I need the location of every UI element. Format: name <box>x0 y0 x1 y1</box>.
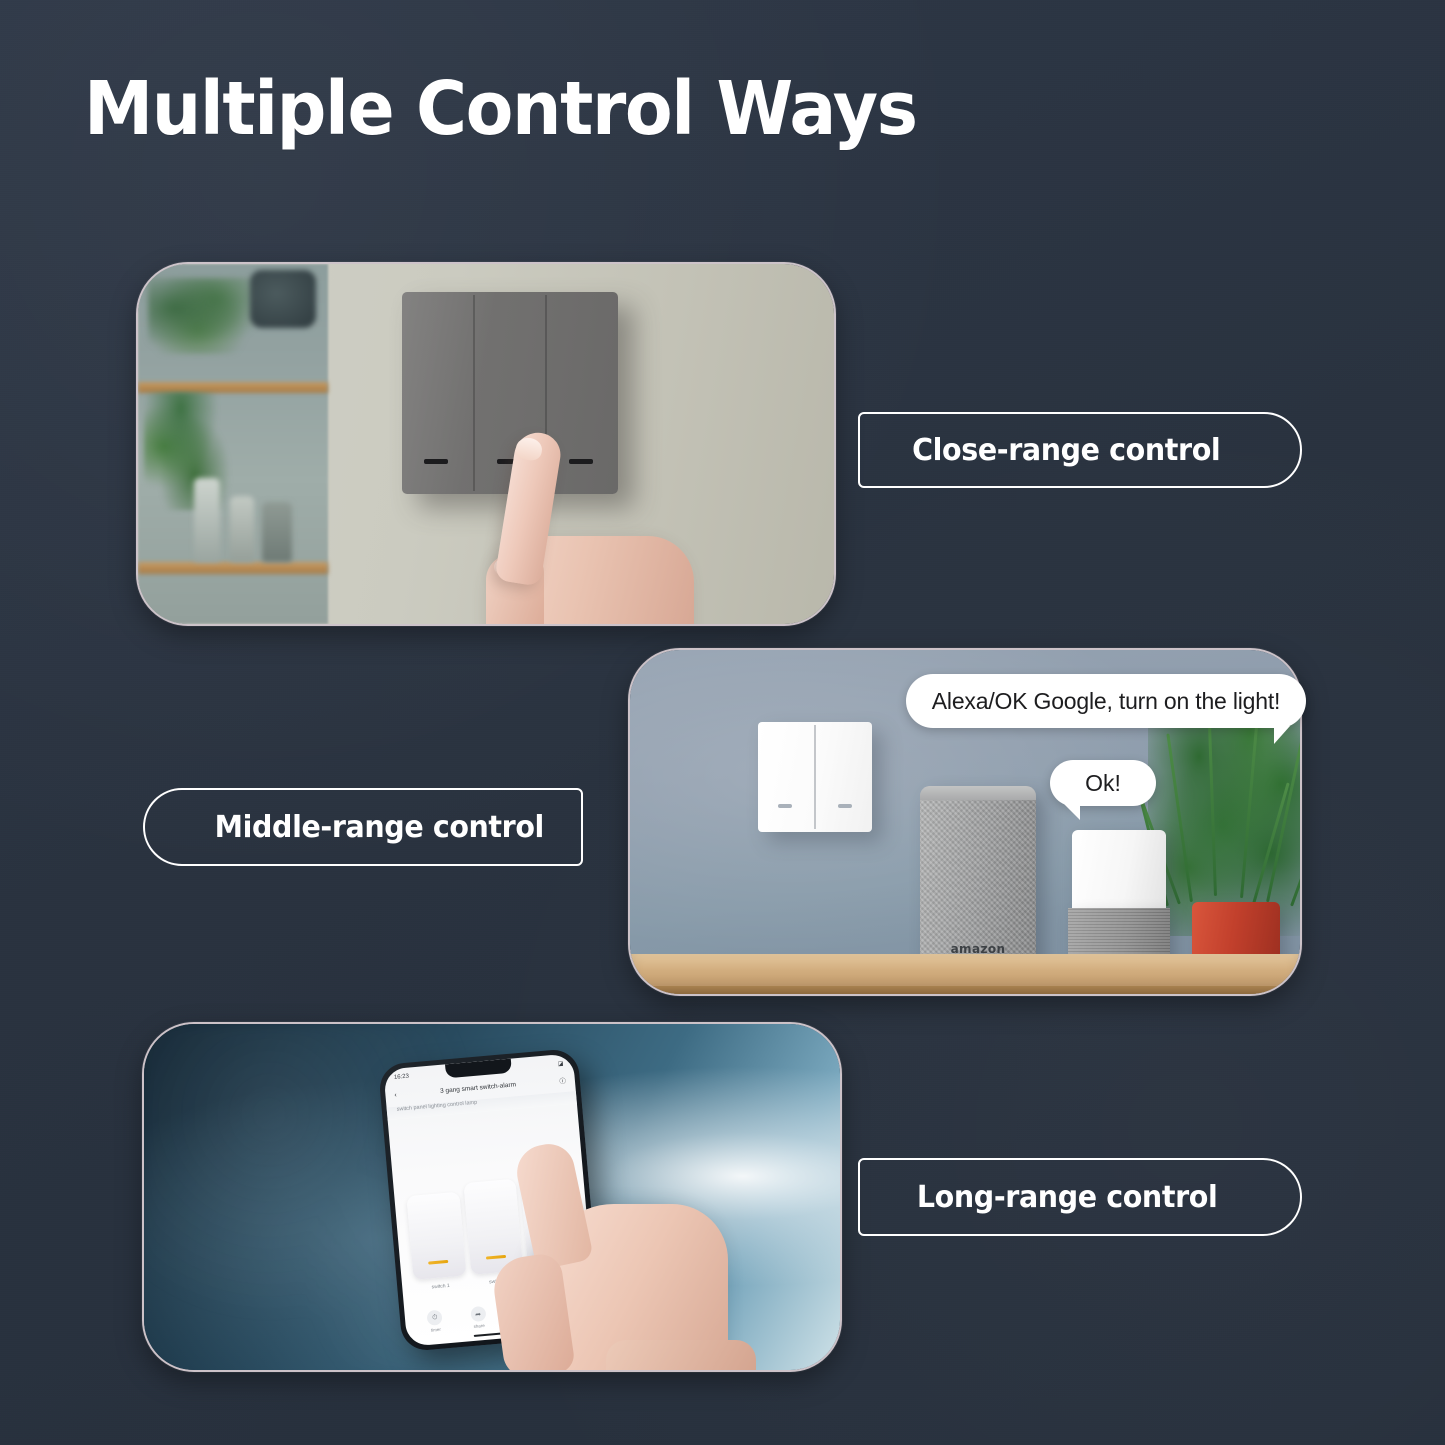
bottle-decor-3 <box>262 502 292 562</box>
shelf-board-lower <box>138 562 328 574</box>
info-icon[interactable]: ⓘ <box>559 1075 566 1086</box>
label-close-range-control[interactable]: Close-range control <box>858 412 1302 488</box>
pill-close-label: Close-range control <box>912 433 1220 468</box>
switch-divider-1 <box>473 295 475 491</box>
bubble-tail-icon <box>1274 726 1294 744</box>
wall-switch-2gang[interactable] <box>758 722 872 832</box>
back-icon[interactable]: ‹ <box>394 1091 397 1098</box>
tile-indicator-icon <box>486 1254 506 1259</box>
hand-holding-phone <box>516 1144 756 1370</box>
long-range-scene: 16:23 ◪ ‹ 3 gang smart switch-alarm ⓘ sw… <box>144 1024 840 1370</box>
plant-icon <box>148 278 256 354</box>
plant-stem <box>1240 717 1259 899</box>
label-long-range-control[interactable]: Long-range control <box>858 1158 1302 1236</box>
tile-label: switch 1 <box>414 1281 467 1292</box>
bottle-decor-1 <box>194 478 220 562</box>
google-home-top <box>1072 830 1166 910</box>
label-middle-range-control[interactable]: Middle-range control <box>143 788 583 866</box>
pill-middle-label: Middle-range control <box>214 810 543 845</box>
google-home-speaker <box>1068 830 1170 972</box>
hand-pressing-switch <box>490 432 706 624</box>
share-icon: ➦ <box>470 1306 486 1322</box>
clock-icon: ⏱ <box>427 1310 443 1326</box>
bottle-decor-2 <box>230 496 254 562</box>
toolbar-label: timer <box>431 1327 441 1333</box>
toolbar-item-timer[interactable]: ⏱ timer <box>427 1310 444 1333</box>
switch-indicator-1 <box>424 459 448 464</box>
wooden-shelf <box>630 954 1300 994</box>
plant-stem <box>1266 741 1300 902</box>
panel-close-range <box>136 262 836 626</box>
status-icons: ◪ <box>557 1060 563 1067</box>
amazon-echo-speaker: amazon <box>920 786 1036 968</box>
page-title: Multiple Control Ways <box>84 72 917 146</box>
hanging-vine-icon <box>144 392 236 510</box>
switch-indicator-1 <box>778 804 792 808</box>
plant-stem <box>1207 708 1217 896</box>
speech-bubble-voice-command: Alexa/OK Google, turn on the light! <box>906 674 1306 728</box>
app-title: 3 gang smart switch-alarm <box>440 1081 517 1095</box>
echo-top-ring <box>920 786 1036 800</box>
tile-indicator-icon <box>428 1259 448 1264</box>
close-range-scene <box>138 264 834 624</box>
switch-divider <box>814 725 816 829</box>
switch-tile[interactable]: switch 1 <box>406 1192 466 1280</box>
switch-indicator-2 <box>838 804 852 808</box>
voice-command-text: Alexa/OK Google, turn on the light! <box>932 688 1280 715</box>
index-finger <box>512 1139 594 1270</box>
pill-long-label: Long-range control <box>917 1180 1217 1215</box>
shelf-edge <box>630 986 1300 994</box>
assistant-reply-text: Ok! <box>1085 770 1121 797</box>
toolbar-item-share[interactable]: ➦ share <box>470 1306 487 1329</box>
speech-bubble-assistant-reply: Ok! <box>1050 760 1156 806</box>
panel-long-range: 16:23 ◪ ‹ 3 gang smart switch-alarm ⓘ sw… <box>142 1022 842 1372</box>
toolbar-label: share <box>473 1323 485 1329</box>
status-time: 16:23 <box>394 1074 409 1081</box>
wrist <box>606 1340 756 1370</box>
bubble-tail-icon <box>1060 804 1080 820</box>
pot-icon <box>250 270 316 328</box>
